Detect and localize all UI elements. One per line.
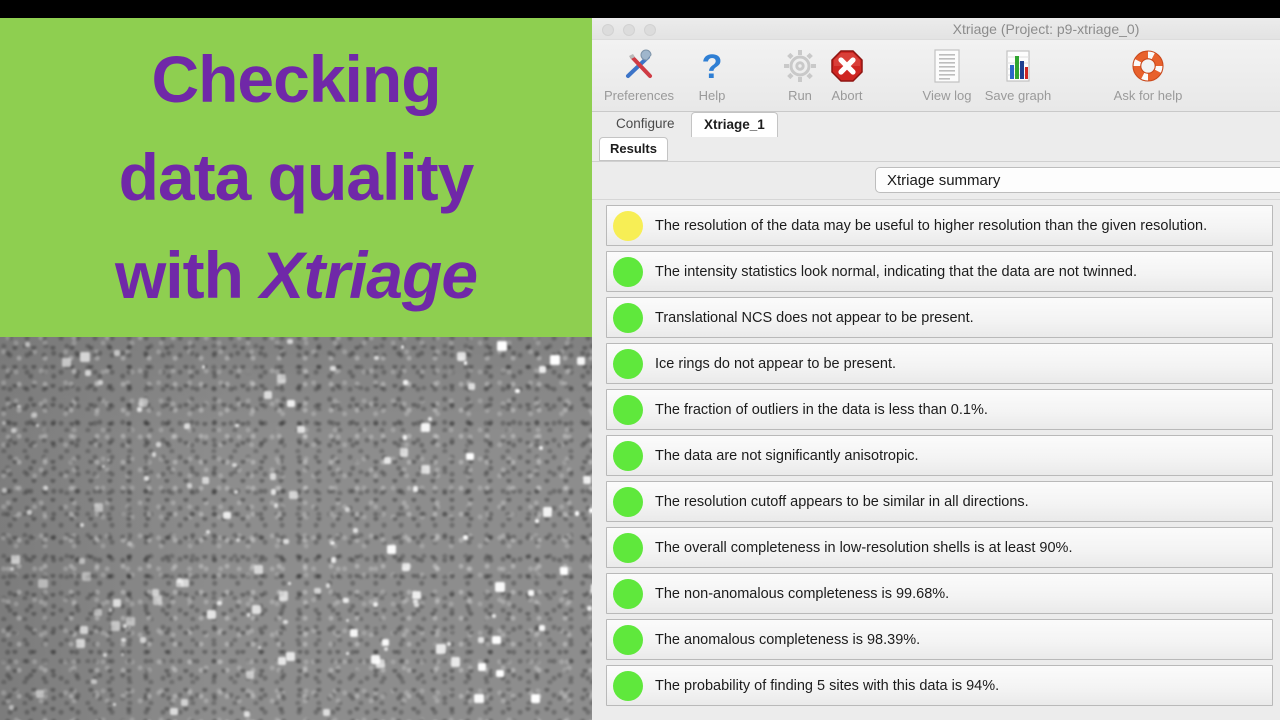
diffraction-spot xyxy=(127,541,133,547)
diffraction-spot xyxy=(94,609,102,617)
diffraction-spot xyxy=(412,591,421,600)
diffraction-spot xyxy=(539,625,545,631)
diffraction-spot xyxy=(403,435,408,440)
diffraction-spot xyxy=(384,457,390,463)
result-text: The anomalous completeness is 98.39%. xyxy=(655,632,920,648)
diffraction-spot xyxy=(11,555,20,564)
diffraction-spot xyxy=(474,694,483,703)
diffraction-spot xyxy=(384,647,389,652)
diffraction-spot xyxy=(531,694,540,703)
diffraction-spot xyxy=(36,424,40,428)
diffraction-spot xyxy=(343,598,349,604)
diffraction-spot xyxy=(207,610,216,619)
diffraction-spot xyxy=(98,380,103,385)
title-line-1: Checking xyxy=(0,30,592,128)
diffraction-spot xyxy=(107,459,110,462)
title-line-3-prefix: with xyxy=(115,238,260,312)
diffraction-spot xyxy=(468,383,475,390)
tab-results[interactable]: Results xyxy=(599,137,668,161)
diffraction-spot xyxy=(121,653,124,656)
diffraction-spot xyxy=(140,637,147,644)
diffraction-spot xyxy=(283,620,287,624)
screenshot-root: Checking data quality with Xtriage Xtria… xyxy=(0,0,1280,720)
diffraction-spot xyxy=(176,580,183,587)
tab-configure[interactable]: Configure xyxy=(604,112,687,136)
diffraction-spot xyxy=(323,709,330,716)
diffraction-spot xyxy=(121,638,125,642)
diffraction-spot xyxy=(587,606,592,611)
diffraction-spot xyxy=(550,355,560,365)
diffraction-spot xyxy=(123,624,127,628)
window-title: Xtriage (Project: p9-xtriage_0) xyxy=(592,21,1280,37)
diffraction-spot xyxy=(350,629,358,637)
sub-tabs: Results xyxy=(592,137,1280,162)
result-text: Translational NCS does not appear to be … xyxy=(655,310,974,326)
status-indicator-green xyxy=(613,533,643,563)
diffraction-spot xyxy=(297,426,304,433)
diffraction-spot xyxy=(254,565,263,574)
result-text: The resolution of the data may be useful… xyxy=(655,218,1207,234)
toolbar-label-save-graph: Save graph xyxy=(975,88,1061,103)
diffraction-spot xyxy=(25,342,30,347)
diffraction-spot xyxy=(539,366,546,373)
svg-text:?: ? xyxy=(702,48,723,84)
diffraction-spot xyxy=(109,608,112,611)
diffraction-spot xyxy=(374,356,378,360)
result-row[interactable]: The intensity statistics look normal, in… xyxy=(606,251,1273,292)
diffraction-spot xyxy=(91,679,96,684)
diffraction-spot xyxy=(314,588,320,594)
result-row[interactable]: The resolution cutoff appears to be simi… xyxy=(606,481,1273,522)
result-row[interactable]: The resolution of the data may be useful… xyxy=(606,205,1273,246)
status-indicator-green xyxy=(613,625,643,655)
status-indicator-green xyxy=(613,257,643,287)
diffraction-spot xyxy=(346,652,350,656)
diffraction-spot xyxy=(387,545,396,554)
diffraction-spot xyxy=(447,642,451,646)
diffraction-spot xyxy=(80,626,88,634)
diffraction-spot xyxy=(288,582,291,585)
diffraction-spot xyxy=(330,541,335,546)
diffraction-spot xyxy=(264,391,272,399)
status-indicator-green xyxy=(613,671,643,701)
diffraction-spot xyxy=(152,589,159,596)
diffraction-spot xyxy=(113,599,122,608)
diffraction-spot xyxy=(36,690,43,697)
status-indicator-yellow xyxy=(613,211,643,241)
window-titlebar: Xtriage (Project: p9-xtriage_0) xyxy=(592,18,1280,40)
diffraction-spot xyxy=(515,389,520,394)
diffraction-spot xyxy=(478,637,484,643)
diffraction-spot xyxy=(330,366,335,371)
diffraction-spot xyxy=(152,452,156,456)
diffraction-spot xyxy=(283,539,288,544)
diffraction-spot xyxy=(457,352,466,361)
diffraction-spot xyxy=(206,530,210,534)
diffraction-spot xyxy=(463,535,468,540)
diffraction-spot xyxy=(62,358,71,367)
diffraction-spot xyxy=(382,639,390,647)
diffraction-spot xyxy=(126,617,135,626)
diffraction-spot xyxy=(277,374,285,382)
diffraction-spot xyxy=(113,703,116,706)
diffraction-spot xyxy=(539,446,543,450)
diffraction-spot xyxy=(137,407,142,412)
title-card: Checking data quality with Xtriage xyxy=(0,18,592,337)
diffraction-spot xyxy=(373,602,378,607)
diffraction-spot xyxy=(331,557,337,563)
main-tabs: Configure Xtriage_1 xyxy=(592,112,1280,137)
diffraction-spot xyxy=(80,352,90,362)
result-text: The data are not significantly anisotrop… xyxy=(655,448,919,464)
diffraction-spot xyxy=(583,476,591,484)
diffraction-spot xyxy=(128,626,132,630)
diffraction-spot xyxy=(346,619,349,622)
diffraction-spot xyxy=(560,567,568,575)
diffraction-spot xyxy=(271,489,276,494)
diffraction-spot xyxy=(31,413,37,419)
result-text: The probability of finding 5 sites with … xyxy=(655,678,999,694)
diffraction-spot xyxy=(270,473,277,480)
diffraction-spot xyxy=(286,652,295,661)
diffraction-spot xyxy=(278,657,285,664)
diffraction-spot xyxy=(403,380,408,385)
diffraction-spot xyxy=(421,423,430,432)
page-title: Checking data quality with Xtriage xyxy=(0,30,592,324)
tab-xtriage-1[interactable]: Xtriage_1 xyxy=(691,112,778,137)
status-indicator-green xyxy=(613,395,643,425)
diffraction-spot xyxy=(543,507,552,516)
diffraction-spot xyxy=(38,579,47,588)
diffraction-spot xyxy=(223,512,230,519)
diffraction-spot xyxy=(156,442,161,447)
diffraction-spot xyxy=(94,503,103,512)
diffraction-spot xyxy=(289,491,298,500)
diffraction-spot xyxy=(497,341,507,351)
diffraction-spots xyxy=(0,337,592,720)
diffraction-spot xyxy=(528,590,534,596)
toolbar-label-abort: Abort xyxy=(804,88,890,103)
summary-select[interactable]: Xtriage summary xyxy=(875,167,1280,193)
diffraction-spot xyxy=(451,657,460,666)
diffraction-spot xyxy=(287,400,294,407)
diffraction-spot xyxy=(478,663,486,671)
result-text: The overall completeness in low-resoluti… xyxy=(655,540,1072,556)
diffraction-spot xyxy=(184,423,190,429)
toolbar-button-abort[interactable]: Abort xyxy=(804,45,890,103)
result-text: The non-anomalous completeness is 99.68%… xyxy=(655,586,949,602)
diffraction-spot xyxy=(236,538,240,542)
toolbar: Preferences ? Help xyxy=(592,40,1280,112)
status-indicator-green xyxy=(613,441,643,471)
diffraction-spot xyxy=(82,572,91,581)
result-text: The fraction of outliers in the data is … xyxy=(655,402,988,418)
diffraction-spot xyxy=(326,583,330,587)
title-line-2: data quality xyxy=(0,128,592,226)
result-row[interactable]: The overall completeness in low-resoluti… xyxy=(606,527,1273,568)
diffraction-spot xyxy=(111,621,120,630)
diffraction-spot xyxy=(44,486,48,490)
diffraction-spot xyxy=(464,361,467,364)
diffraction-spot xyxy=(492,614,497,619)
diffraction-spot xyxy=(27,510,32,515)
diffraction-spot xyxy=(246,671,254,679)
diffraction-spot xyxy=(187,483,192,488)
result-text: Ice rings do not appear to be present. xyxy=(655,356,896,372)
status-indicator-green xyxy=(613,303,643,333)
diffraction-spot xyxy=(79,558,85,564)
diffraction-spot xyxy=(232,463,237,468)
diffraction-spot xyxy=(414,603,418,607)
toolbar-label-help: Help xyxy=(669,88,755,103)
toolbar-button-ask-for-help[interactable]: Ask for help xyxy=(1105,45,1191,103)
diffraction-spot xyxy=(2,488,7,493)
diffraction-spot xyxy=(235,424,238,427)
title-emphasis: Xtriage xyxy=(260,238,477,312)
result-row[interactable]: The data are not significantly anisotrop… xyxy=(606,435,1273,476)
toolbar-label-ask-for-help: Ask for help xyxy=(1105,88,1191,103)
result-row[interactable]: The fraction of outliers in the data is … xyxy=(606,389,1273,430)
diffraction-spot xyxy=(577,357,585,365)
result-row[interactable]: Ice rings do not appear to be present. xyxy=(606,343,1273,384)
diffraction-spot xyxy=(401,345,404,348)
result-row[interactable]: The anomalous completeness is 98.39%. xyxy=(606,619,1273,660)
life-ring-icon xyxy=(1105,45,1191,87)
diffraction-spot xyxy=(114,350,120,356)
diffraction-spot xyxy=(234,490,239,495)
bar-chart-icon xyxy=(975,45,1061,87)
xtriage-window: Xtriage (Project: p9-xtriage_0) Preferen… xyxy=(592,18,1280,720)
diffraction-spot xyxy=(153,595,162,604)
diffraction-spot xyxy=(103,653,107,657)
question-mark-icon: ? xyxy=(669,45,755,87)
diffraction-spot xyxy=(102,465,105,468)
diffraction-spot xyxy=(279,591,289,601)
diffraction-spot xyxy=(252,605,261,614)
diffraction-spot xyxy=(247,613,251,617)
result-text: The resolution cutoff appears to be simi… xyxy=(655,494,1029,510)
diffraction-spot xyxy=(274,503,279,508)
diffraction-spot xyxy=(181,699,189,707)
results-list[interactable]: The resolution of the data may be useful… xyxy=(592,200,1280,720)
diffraction-spot xyxy=(202,365,205,368)
diffraction-spot xyxy=(402,563,411,572)
diffraction-spot xyxy=(287,339,292,344)
diffraction-spot xyxy=(17,405,21,409)
status-indicator-green xyxy=(613,487,643,517)
diffraction-spot xyxy=(11,428,16,433)
diffraction-spot xyxy=(436,644,446,654)
diffraction-spot xyxy=(413,486,418,491)
diffraction-spot xyxy=(575,511,580,516)
diffraction-spot xyxy=(496,670,503,677)
diffraction-spot xyxy=(492,636,501,645)
result-row[interactable]: The probability of finding 5 sites with … xyxy=(606,665,1273,706)
diffraction-spot xyxy=(9,705,14,710)
slide-panel: Checking data quality with Xtriage xyxy=(0,18,592,720)
diffraction-spot xyxy=(495,582,505,592)
diffraction-spot xyxy=(85,370,91,376)
diffraction-spot xyxy=(258,646,261,649)
result-row[interactable]: Translational NCS does not appear to be … xyxy=(606,297,1273,338)
result-row[interactable]: The non-anomalous completeness is 99.68%… xyxy=(606,573,1273,614)
diffraction-spot xyxy=(244,711,250,717)
diffraction-spot xyxy=(345,507,350,512)
diffraction-spot xyxy=(144,476,149,481)
toolbar-button-help[interactable]: ? Help xyxy=(669,45,755,103)
diffraction-spot xyxy=(170,708,178,716)
diffraction-spot xyxy=(376,659,385,668)
diffraction-spot xyxy=(80,523,84,527)
summary-select-value: Xtriage summary xyxy=(887,172,1000,189)
diffraction-spot xyxy=(535,519,538,522)
diffraction-image xyxy=(0,337,592,720)
summary-bar: Xtriage summary xyxy=(592,162,1280,200)
diffraction-spot xyxy=(217,601,221,605)
diffraction-spot xyxy=(353,528,357,532)
diffraction-spot xyxy=(400,448,408,456)
diffraction-spot xyxy=(466,453,473,460)
diffraction-spot xyxy=(202,477,209,484)
diffraction-spot xyxy=(139,398,149,408)
status-indicator-green xyxy=(613,579,643,609)
diffraction-spot xyxy=(421,465,430,474)
diffraction-spot xyxy=(10,567,15,572)
diffraction-spot xyxy=(76,639,85,648)
status-indicator-green xyxy=(613,349,643,379)
title-line-3: with Xtriage xyxy=(0,226,592,324)
stop-x-icon xyxy=(804,45,890,87)
toolbar-button-save-graph[interactable]: Save graph xyxy=(975,45,1061,103)
result-text: The intensity statistics look normal, in… xyxy=(655,264,1137,280)
diffraction-spot xyxy=(428,417,432,421)
diffraction-spot xyxy=(2,421,6,425)
